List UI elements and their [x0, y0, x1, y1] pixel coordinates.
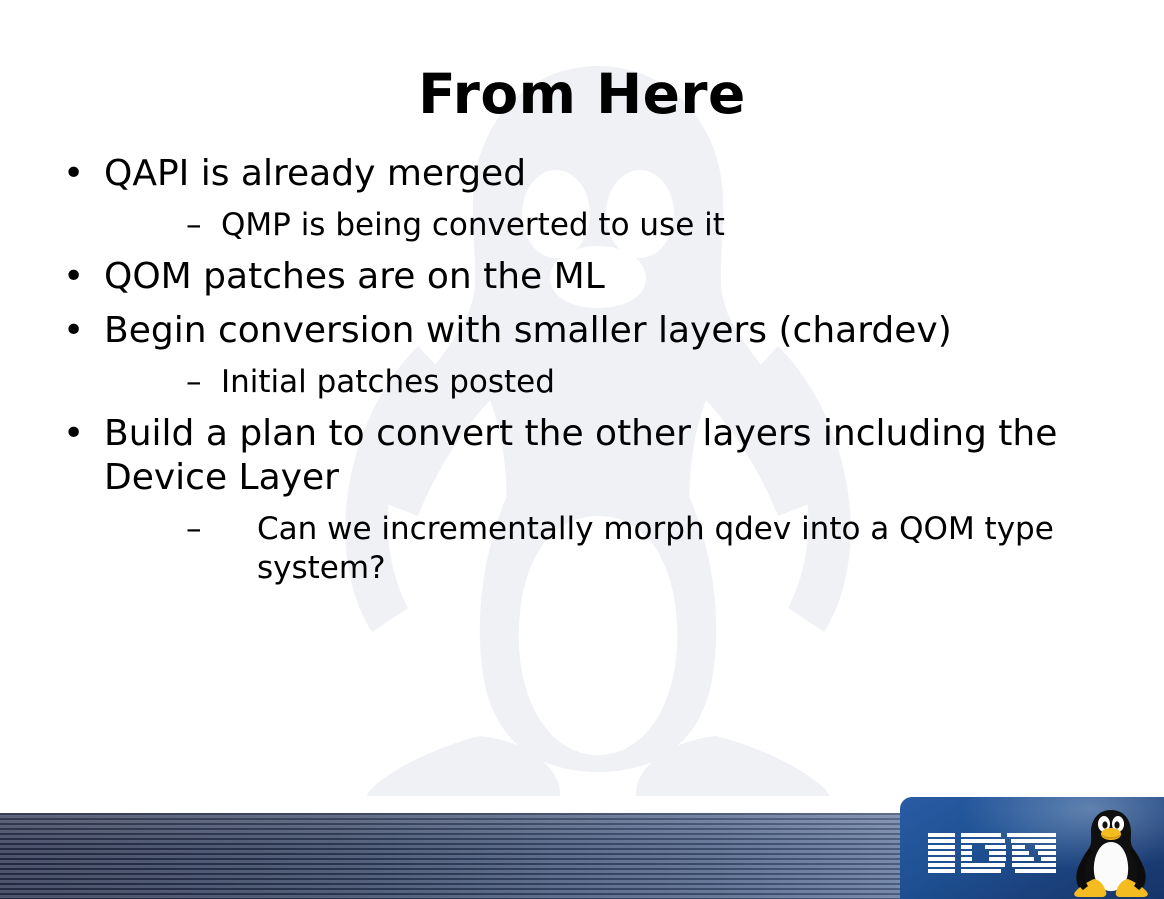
- sub-bullet-item: – Can we incrementally morph qdev into a…: [0, 510, 1110, 588]
- bullet-text: Begin conversion with smaller layers (ch…: [104, 310, 952, 351]
- sub-bullet-text: QMP is being converted to use it: [221, 207, 725, 243]
- sub-bullet-marker: –: [186, 363, 202, 402]
- bullet-item: • Begin conversion with smaller layers (…: [0, 309, 1110, 353]
- bullet-item: • Build a plan to convert the other laye…: [0, 412, 1110, 500]
- sub-bullet-text: Can we incrementally morph qdev into a Q…: [221, 510, 1110, 588]
- bullet-marker: •: [63, 152, 84, 196]
- sub-bullet-marker: –: [186, 206, 202, 245]
- sub-bullet-text: Initial patches posted: [221, 364, 555, 400]
- sub-bullet-item: – QMP is being converted to use it: [0, 206, 1110, 245]
- bullet-marker: •: [63, 255, 84, 299]
- slide: From Here • QAPI is already merged – QMP…: [0, 0, 1164, 899]
- bullet-item: • QAPI is already merged: [0, 152, 1110, 196]
- ibm-logo-panel: [900, 797, 1164, 899]
- ibm-logo: [928, 833, 1056, 879]
- bullet-text: Build a plan to convert the other layers…: [104, 413, 1057, 498]
- sub-bullet-item: – Initial patches posted: [0, 363, 1110, 402]
- bullet-item: • QOM patches are on the ML: [0, 255, 1110, 299]
- tux-penguin-icon: [1072, 805, 1150, 897]
- page-title: From Here: [0, 62, 1164, 126]
- bullet-marker: •: [63, 412, 84, 456]
- sub-bullet-marker: –: [186, 510, 202, 549]
- bullet-text: QOM patches are on the ML: [104, 256, 605, 297]
- bullet-marker: •: [63, 309, 84, 353]
- bullet-text: QAPI is already merged: [104, 153, 526, 194]
- slide-content: • QAPI is already merged – QMP is being …: [0, 152, 1110, 598]
